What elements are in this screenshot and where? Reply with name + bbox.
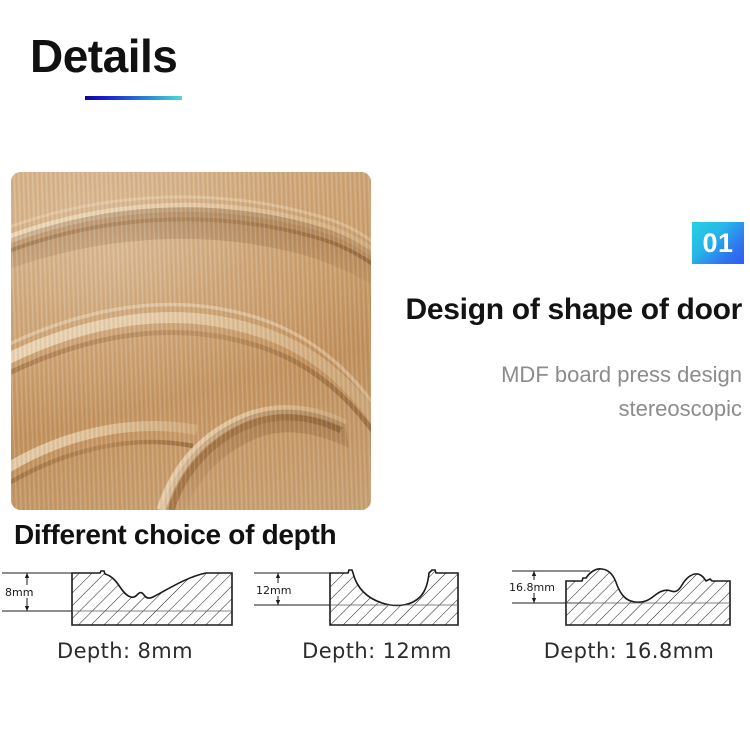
depth-label-16-8mm: Depth: 16.8mm	[504, 639, 750, 663]
depth-section-heading: Different choice of depth	[14, 519, 336, 551]
feature-subtitle-line-2: stereoscopic	[322, 392, 742, 426]
feature-subtitle: MDF board press design stereoscopic	[322, 358, 742, 426]
depth-profile-diagram-12mm: 12mm	[252, 563, 502, 639]
feature-number-badge: 01	[692, 222, 744, 264]
title-underline-accent	[85, 96, 182, 100]
depth-dimension-text-16-8mm: 16.8mm	[509, 581, 555, 594]
product-image	[11, 172, 371, 510]
depth-option-12mm: 12mm Depth: 12mm	[252, 563, 502, 683]
depth-label-12mm: Depth: 12mm	[252, 639, 502, 663]
depth-profile-diagram-8mm: 8mm 8mm	[0, 563, 250, 639]
feature-subtitle-line-1: MDF board press design	[322, 358, 742, 392]
depth-dimension-text-12mm: 12mm	[256, 584, 291, 597]
details-page: Details	[0, 0, 750, 750]
feature-title: Design of shape of door	[406, 293, 742, 327]
depth-label-8mm: Depth: 8mm	[0, 639, 250, 663]
depth-option-16-8mm: 16.8mm Depth: 16.8mm	[504, 563, 750, 683]
svg-text:8mm: 8mm	[5, 586, 33, 599]
depth-option-8mm: 8mm 8mm Depth: 8mm	[0, 563, 250, 683]
wood-vignette	[11, 172, 371, 510]
depth-profile-diagram-16-8mm: 16.8mm	[504, 563, 750, 639]
page-title: Details	[30, 32, 177, 80]
depth-options-row: 8mm 8mm Depth: 8mm	[0, 563, 750, 683]
